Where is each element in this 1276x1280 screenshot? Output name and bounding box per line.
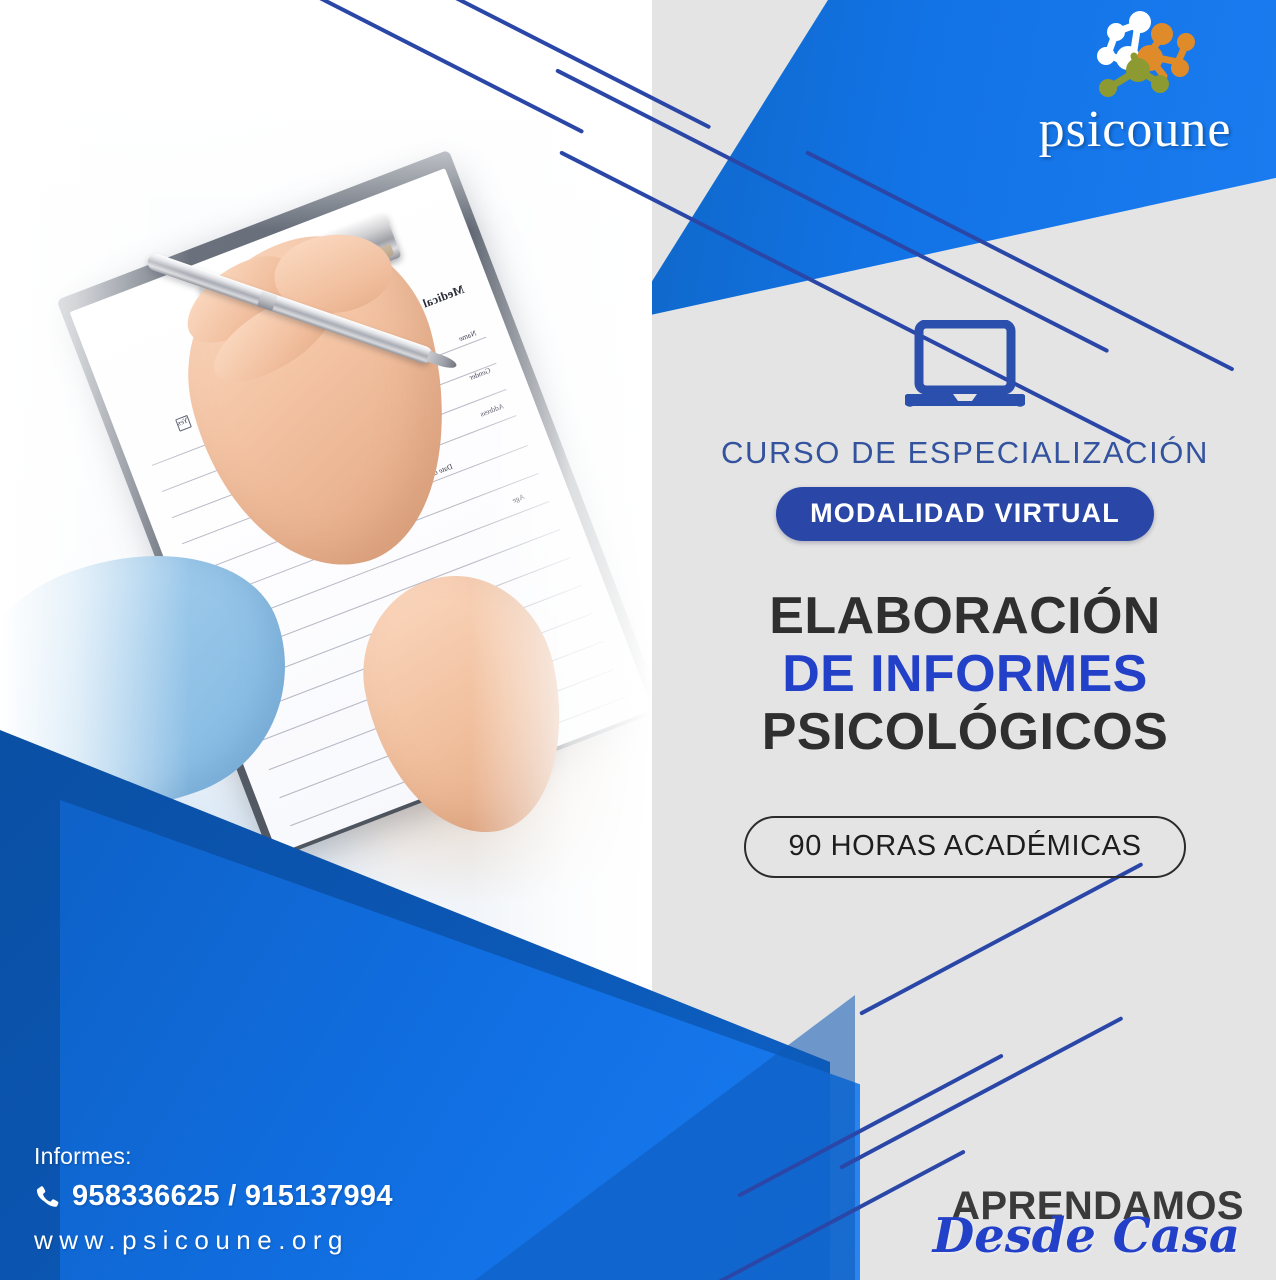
academic-hours-badge: 90 HORAS ACADÉMICAS xyxy=(744,816,1185,878)
logo-wordmark: psicoune xyxy=(1020,104,1250,156)
contact-website[interactable]: www.psicoune.org xyxy=(34,1225,393,1256)
slogan-line-2: Desde Casa xyxy=(914,1214,1240,1258)
slogan-block: APRENDAMOS Desde Casa xyxy=(914,1186,1244,1258)
main-content: CURSO DE ESPECIALIZACIÓN MODALIDAD VIRTU… xyxy=(660,320,1270,878)
contact-phone-row[interactable]: 958336625 / 915137994 xyxy=(34,1180,393,1213)
promo-poster: Medical card Name Date of birth Gender A… xyxy=(0,0,1276,1280)
contact-phone-numbers: 958336625 / 915137994 xyxy=(72,1180,393,1213)
molecule-network-icon xyxy=(1072,10,1212,114)
title-line-2: DE INFORMES xyxy=(660,645,1270,703)
course-kicker: CURSO DE ESPECIALIZACIÓN xyxy=(660,435,1270,471)
modality-badge: MODALIDAD VIRTUAL xyxy=(776,487,1154,541)
title-line-1: ELABORACIÓN xyxy=(660,587,1270,645)
title-line-3: PSICOLÓGICOS xyxy=(660,703,1270,761)
contact-block: Informes: 958336625 / 915137994 www.psic… xyxy=(34,1143,393,1256)
laptop-icon xyxy=(905,320,1025,412)
psicoune-logo[interactable]: psicoune xyxy=(1020,8,1250,158)
phone-icon xyxy=(34,1184,60,1210)
contact-label: Informes: xyxy=(34,1143,393,1170)
course-title: ELABORACIÓN DE INFORMES PSICOLÓGICOS xyxy=(660,587,1270,762)
